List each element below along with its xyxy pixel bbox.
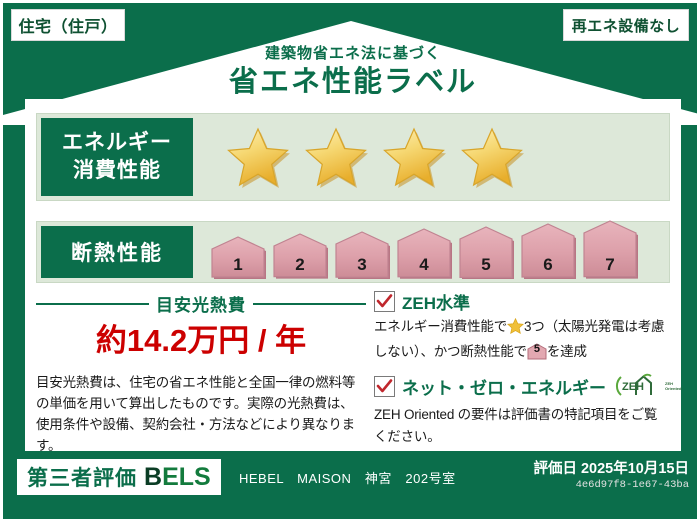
net-zero-energy-item: ネット・ゼロ・エネルギー ZEH ZEHOriented ZEH Oriente… <box>374 371 670 448</box>
energy-performance-label: 住宅（住戸） 再エネ設備なし 建築物省エネ法に基づく 省エネ性能ラベル エネルギ… <box>0 0 700 522</box>
insulation-level-number: 6 <box>519 255 577 275</box>
net-zero-heading: ネット・ゼロ・エネルギー ZEH ZEHOriented <box>374 371 670 402</box>
utility-cost-heading: 目安光熱費 <box>36 291 366 316</box>
property-name: HEBEL MAISON 神宮 202号室 <box>239 468 456 487</box>
heading-rule-left <box>36 303 149 305</box>
star-icon <box>457 123 527 191</box>
energy-label-line2: 消費性能 <box>73 157 161 185</box>
zeh-standard-title: ZEH水準 <box>402 289 470 314</box>
insulation-performance-label-box: 断熱性能 <box>41 226 193 278</box>
insulation-level-number: 4 <box>395 255 453 275</box>
tag-dwelling-label: 住宅（住戸） <box>18 13 117 37</box>
insulation-level-number: 5 <box>457 255 515 275</box>
zeh-standard-text-part1: エネルギー消費性能で <box>374 319 507 334</box>
insulation-level-5: 5 <box>457 225 515 279</box>
svg-text:ZEH: ZEH <box>622 381 644 393</box>
tag-renewable-equipment: 再エネ設備なし <box>563 9 689 41</box>
utility-cost-panel: 目安光熱費 約14.2万円 / 年 目安光熱費は、住宅の省エネ性能と全国一律の燃… <box>36 289 366 447</box>
net-zero-text: ZEH Oriented の要件は評価書の特記項目をご覧ください。 <box>374 404 670 448</box>
insulation-level-2: 2 <box>271 232 329 279</box>
star-rating <box>193 123 527 191</box>
house-icon-level: 5 <box>527 338 547 360</box>
zeh-standard-text-part3: を達成 <box>547 344 587 359</box>
page-title: 省エネ性能ラベル <box>3 64 700 100</box>
insulation-level-number: 7 <box>581 255 639 275</box>
insulation-level-7: 7 <box>581 219 639 279</box>
insulation-level-number: 1 <box>209 255 267 275</box>
evaluation-date-value: 2025年10月15日 <box>581 461 689 477</box>
energy-stars-area <box>193 114 669 200</box>
utility-cost-note: 目安光熱費は、住宅の省エネ性能と全国一律の燃料等の単価を用いて算出したものです。… <box>36 372 366 456</box>
zeh-logo-sub-line2: Oriented <box>665 386 681 391</box>
insulation-level-number: 2 <box>271 255 329 275</box>
star-icon <box>223 123 293 191</box>
insulation-level-scale: 1234567 <box>193 219 639 285</box>
insulation-level-1: 1 <box>209 235 267 279</box>
star-icon-inline <box>507 318 524 341</box>
insulation-performance-row: 断熱性能 1234567 <box>36 221 670 283</box>
energy-performance-label-box: エネルギー 消費性能 <box>41 118 193 196</box>
star-icon <box>379 123 449 191</box>
bels-badge: 第三者評価 BELS <box>17 459 221 495</box>
tag-dwelling-type: 住宅（住戸） <box>11 9 125 41</box>
evaluation-date: 評価日 2025年10月15日 <box>533 457 689 478</box>
energy-performance-row: エネルギー 消費性能 <box>36 113 670 201</box>
utility-cost-heading-label: 目安光熱費 <box>156 291 246 316</box>
zeh-logo-subtext: ZEHOriented <box>665 382 681 391</box>
zeh-logo-icon: ZEH <box>615 371 657 402</box>
zeh-standard-text: エネルギー消費性能で3つ（太陽光発電は考慮しない）、かつ断熱性能で5を達成 <box>374 316 670 363</box>
header-subtitle: 建築物省エネ法に基づく <box>3 45 700 63</box>
label-header: 建築物省エネ法に基づく 省エネ性能ラベル <box>3 45 700 100</box>
house-icon-inline: 5 <box>527 343 547 360</box>
insulation-levels-area: 1234567 <box>193 222 669 282</box>
checkmark-icon <box>374 291 395 312</box>
bels-en-label: BELS <box>144 463 211 492</box>
insulation-level-number: 3 <box>333 255 391 275</box>
insulation-level-3: 3 <box>333 230 391 279</box>
insulation-level-4: 4 <box>395 227 453 279</box>
tag-renewable-label: 再エネ設備なし <box>572 15 681 36</box>
bels-jp-label: 第三者評価 <box>27 462 137 492</box>
label-footer: 第三者評価 BELS HEBEL MAISON 神宮 202号室 評価日 202… <box>3 447 700 519</box>
energy-label-line1: エネルギー <box>62 129 172 157</box>
bels-letter-b: B <box>144 463 162 491</box>
insulation-label: 断熱性能 <box>71 237 163 267</box>
zeh-standard-heading: ZEH水準 <box>374 289 670 314</box>
star-icon <box>301 123 371 191</box>
bels-letters-els: ELS <box>162 463 211 491</box>
insulation-level-6: 6 <box>519 222 577 279</box>
zeh-panel: ZEH水準 エネルギー消費性能で3つ（太陽光発電は考慮しない）、かつ断熱性能で5… <box>366 289 670 447</box>
heading-rule-right <box>253 303 366 305</box>
evaluation-date-label: 評価日 <box>533 461 577 477</box>
utility-cost-value: 約14.2万円 / 年 <box>36 322 366 360</box>
net-zero-title: ネット・ゼロ・エネルギー <box>402 374 606 399</box>
evaluation-id: 4e6d97f8-1e67-43ba <box>576 479 689 491</box>
zeh-standard-item: ZEH水準 エネルギー消費性能で3つ（太陽光発電は考慮しない）、かつ断熱性能で5… <box>374 289 670 363</box>
checkmark-icon <box>374 376 395 397</box>
label-middle-section: 目安光熱費 約14.2万円 / 年 目安光熱費は、住宅の省エネ性能と全国一律の燃… <box>36 289 670 447</box>
